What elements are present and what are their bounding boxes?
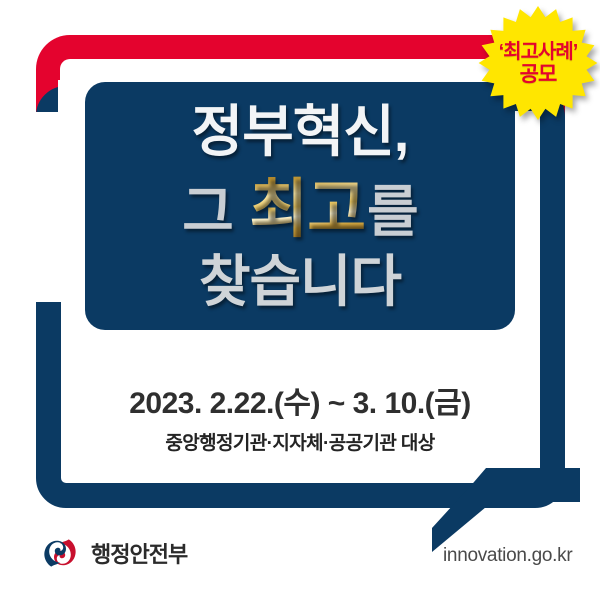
ministry-logo-group: 행정안전부 — [40, 533, 187, 573]
badge-text: ‘최고사례’ 공모 — [478, 4, 598, 124]
taegeuk-icon — [40, 533, 80, 573]
title-card: 정부혁신, 그 최고를 찾습니다 — [85, 82, 515, 330]
website-url: innovation.go.kr — [443, 545, 572, 567]
badge-line-1: ‘최고사례’ — [499, 41, 578, 63]
poster-canvas: 정부혁신, 그 최고를 찾습니다 ‘최고사례’ 공모 2023. 2.22.(수… — [0, 0, 600, 600]
event-target-audience: 중앙행정기관·지자체·공공기관 대상 — [0, 428, 600, 455]
speech-bubble-tail — [430, 468, 580, 552]
title-line-3: 찾습니다 — [85, 254, 515, 310]
ministry-name: 행정안전부 — [91, 537, 187, 569]
frame-gap-left — [30, 112, 70, 302]
title-line-2-suffix: 를 — [367, 180, 418, 243]
title-line-2-prefix: 그 — [182, 180, 247, 243]
title-highlight-choigo: 최고 — [247, 173, 367, 245]
title-line-1: 정부혁신, — [85, 104, 515, 160]
event-period: 2023. 2.22.(수) ~ 3. 10.(금) — [0, 378, 600, 422]
title-line-2: 그 최고를 — [85, 177, 515, 241]
badge-line-2: 공모 — [520, 63, 557, 87]
